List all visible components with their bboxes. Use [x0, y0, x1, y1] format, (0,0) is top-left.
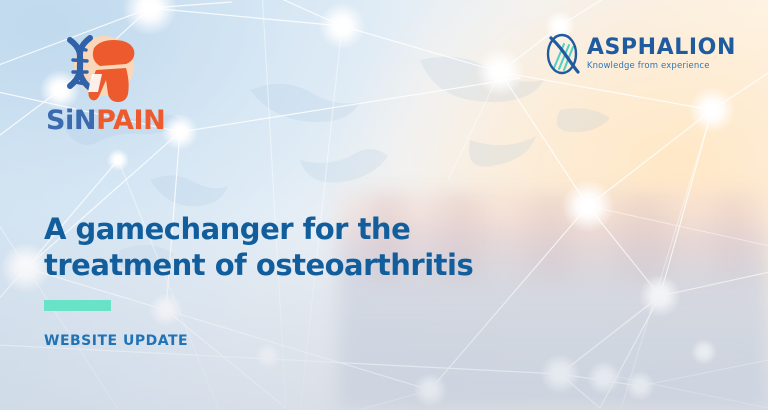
- sinpain-word-sin: SiN: [46, 105, 96, 136]
- sinpain-dna-knee-icon: [46, 34, 176, 108]
- accent-bar: [44, 300, 111, 311]
- asphalion-name: ASPHALION: [587, 37, 736, 59]
- banner-root: SiNPAIN ASPHALION Knowledge from exp: [0, 0, 768, 410]
- sinpain-logo[interactable]: SiNPAIN: [46, 34, 176, 134]
- headline: A gamechanger for the treatment of osteo…: [44, 212, 514, 284]
- asphalion-tagline: Knowledge from experience: [587, 62, 710, 71]
- asphalion-dna-oval-icon: [542, 32, 584, 76]
- sinpain-word-pain: PAIN: [96, 105, 165, 136]
- sinpain-wordmark: SiNPAIN: [46, 107, 176, 134]
- content-block: A gamechanger for the treatment of osteo…: [44, 212, 514, 349]
- kicker-label: WEBSITE UPDATE: [44, 333, 514, 349]
- asphalion-logo[interactable]: ASPHALION Knowledge from experience: [542, 32, 736, 76]
